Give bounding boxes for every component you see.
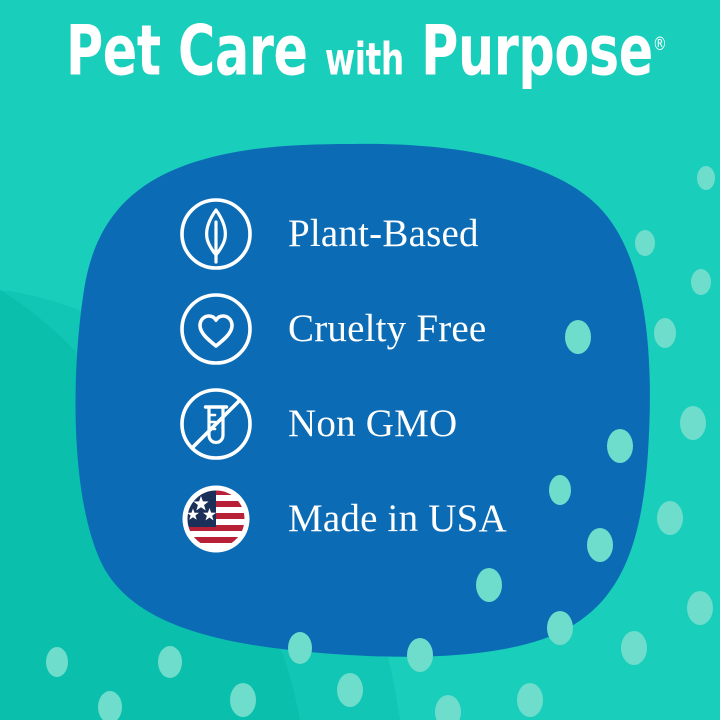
- claim-label-cruelty-free: Cruelty Free: [288, 309, 486, 348]
- claim-row-plant-based: Plant-Based: [178, 186, 608, 281]
- claim-label-plant-based: Plant-Based: [288, 214, 479, 253]
- headline-part-three: Purpose: [421, 10, 653, 92]
- claim-row-cruelty-free: Cruelty Free: [178, 281, 608, 376]
- claims-list: Plant-Based Cruelty Free: [178, 186, 608, 566]
- claim-label-non-gmo: Non GMO: [288, 404, 457, 443]
- claim-label-made-in-usa: Made in USA: [288, 499, 507, 538]
- pet-care-promo-poster: Pet Care with Purpose® Plant-Based Cruel…: [0, 0, 720, 720]
- headline-container: Pet Care with Purpose®: [0, 14, 720, 79]
- no-gmo-icon: [178, 386, 254, 462]
- heart-icon: [178, 291, 254, 367]
- leaf-icon: [178, 196, 254, 272]
- headline-part-one: Pet Care: [66, 10, 308, 92]
- claim-row-made-in-usa: Made in USA: [178, 471, 608, 566]
- usa-flag-icon: [178, 481, 254, 557]
- claim-row-non-gmo: Non GMO: [178, 376, 608, 471]
- registered-trademark-icon: ®: [653, 33, 667, 55]
- page-title: Pet Care with Purpose®: [66, 14, 667, 87]
- headline-part-two: with: [325, 34, 404, 86]
